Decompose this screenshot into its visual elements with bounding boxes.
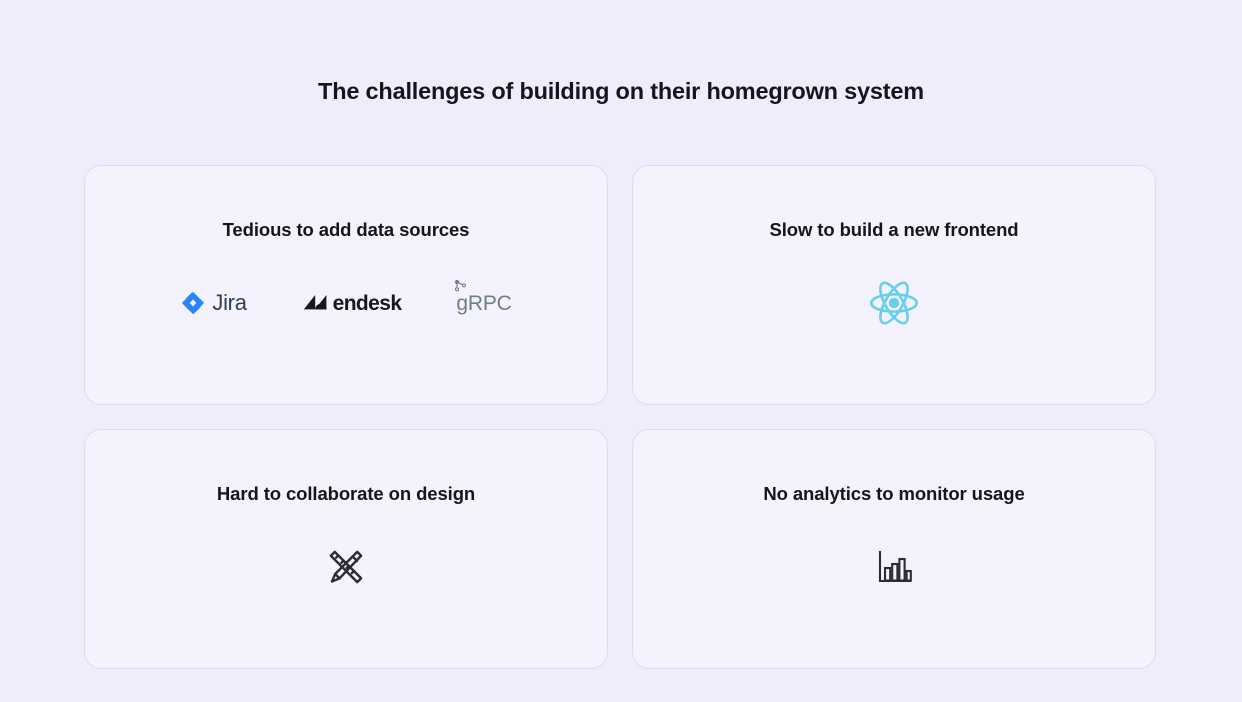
page-title: The challenges of building on their home… [0, 74, 1242, 108]
card-no-analytics-to-monitor-usage[interactable]: No analytics to monitor usage [632, 429, 1156, 669]
challenge-card-grid: Tedious to add data sources Jira [84, 165, 1156, 669]
pencil-ruler-icon [321, 542, 371, 592]
jira-wordmark: Jira [212, 292, 246, 314]
grpc-logo: gRPC [457, 287, 511, 319]
react-icon [866, 275, 922, 331]
card-icon-wrap [866, 272, 922, 334]
zendesk-icon [303, 290, 329, 316]
card-tedious-to-add-data-sources[interactable]: Tedious to add data sources Jira [84, 165, 608, 405]
card-title: No analytics to monitor usage [763, 482, 1024, 506]
zendesk-wordmark: endesk [333, 293, 402, 314]
card-title: Tedious to add data sources [223, 218, 470, 242]
card-logo-row: Jira [180, 272, 511, 334]
card-title: Hard to collaborate on design [217, 482, 475, 506]
zendesk-logo: endesk [303, 287, 402, 319]
grpc-icon [454, 279, 470, 295]
jira-logo: Jira [180, 287, 246, 319]
grpc-wordmark: gRPC [456, 293, 511, 314]
card-slow-to-build-a-new-frontend[interactable]: Slow to build a new frontend [632, 165, 1156, 405]
card-icon-wrap [872, 536, 916, 598]
bar-chart-icon [872, 545, 916, 589]
jira-icon [180, 290, 206, 316]
card-icon-wrap [321, 536, 371, 598]
card-title: Slow to build a new frontend [770, 218, 1019, 242]
slide-canvas: The challenges of building on their home… [0, 0, 1242, 702]
card-hard-to-collaborate-on-design[interactable]: Hard to collaborate on design [84, 429, 608, 669]
